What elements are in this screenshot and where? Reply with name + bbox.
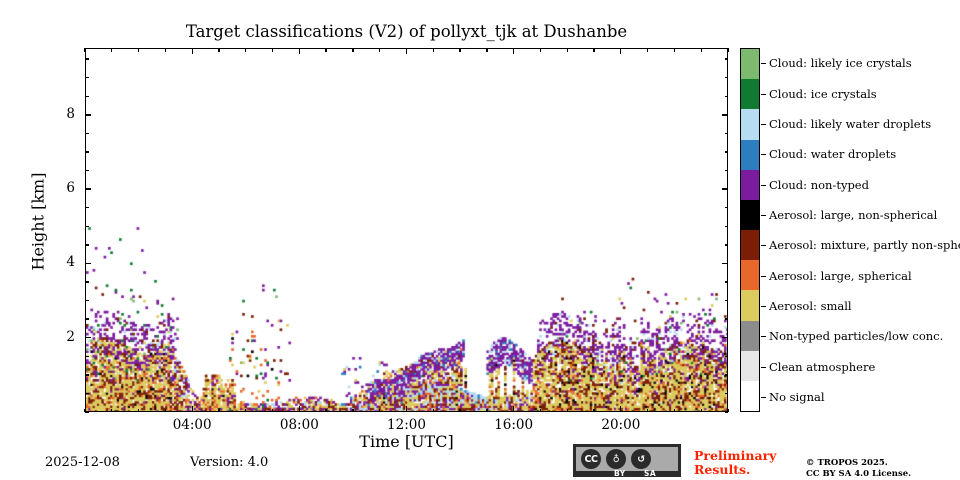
- x-tick-label: 16:00: [474, 417, 554, 433]
- cc-by-label: BY: [614, 469, 626, 478]
- x-tick-minor: [647, 409, 648, 413]
- y-tick-minor: [85, 281, 89, 282]
- colorbar-label: Non-typed particles/low conc.: [769, 329, 943, 343]
- footer-version: Version: 4.0: [190, 455, 268, 470]
- colorbar-tick: [761, 336, 766, 337]
- colorbar-label: No signal: [769, 390, 825, 404]
- colorbar-segment[interactable]: [741, 351, 759, 381]
- colorbar-segment[interactable]: [741, 290, 759, 320]
- x-tick-major: [513, 406, 514, 412]
- colorbar-tick: [761, 124, 766, 125]
- colorbar-tick: [761, 154, 766, 155]
- x-tick-minor: [245, 48, 246, 52]
- colorbar-tick: [761, 306, 766, 307]
- y-tick-minor: [85, 356, 89, 357]
- y-tick-minor: [85, 151, 89, 152]
- y-tick-minor: [725, 151, 729, 152]
- x-tick-minor: [459, 48, 460, 52]
- y-tick-minor: [725, 244, 729, 245]
- colorbar-tick: [761, 63, 766, 64]
- copyright-credit: © TROPOS 2025. CC BY SA 4.0 License.: [806, 458, 911, 480]
- colorbar-label: Cloud: likely water droplets: [769, 117, 931, 131]
- cc-badge-inner: CC ♁ ↺: [576, 447, 678, 471]
- x-tick-label: 04:00: [152, 417, 232, 433]
- x-tick-minor: [567, 48, 568, 52]
- x-tick-minor: [379, 48, 380, 52]
- colorbar-tick: [761, 397, 766, 398]
- x-tick-major: [620, 406, 621, 412]
- colorbar-label: Aerosol: large, non-spherical: [769, 208, 937, 222]
- preliminary-results-notice: Preliminary Results.: [694, 449, 789, 477]
- x-tick-major: [299, 48, 300, 54]
- y-tick-minor: [725, 374, 729, 375]
- x-tick-minor: [647, 48, 648, 52]
- x-tick-minor: [486, 48, 487, 52]
- x-tick-label: 08:00: [259, 417, 339, 433]
- x-tick-minor: [272, 48, 273, 52]
- x-tick-minor: [111, 48, 112, 52]
- footer-date: 2025-12-08: [45, 455, 120, 470]
- x-tick-minor: [325, 409, 326, 413]
- y-tick-minor: [725, 281, 729, 282]
- x-tick-minor: [272, 409, 273, 413]
- x-tick-minor: [486, 409, 487, 413]
- x-tick-minor: [674, 48, 675, 52]
- y-tick-minor: [85, 133, 89, 134]
- y-tick-minor: [725, 207, 729, 208]
- cc-icon: CC: [581, 449, 601, 469]
- y-tick-minor: [85, 170, 89, 171]
- y-tick-minor: [85, 244, 89, 245]
- x-tick-minor: [433, 48, 434, 52]
- cc-by-icon: ♁: [606, 449, 626, 469]
- y-tick-minor: [85, 96, 89, 97]
- colorbar-label: Aerosol: large, spherical: [769, 269, 912, 283]
- x-tick-minor: [593, 48, 594, 52]
- y-tick-minor: [85, 58, 89, 59]
- colorbar-segment[interactable]: [741, 109, 759, 139]
- x-tick-minor: [352, 48, 353, 52]
- x-tick-minor: [567, 409, 568, 413]
- x-tick-major: [513, 48, 514, 54]
- y-tick-minor: [85, 207, 89, 208]
- y-tick-minor: [85, 300, 89, 301]
- y-axis-title: Height [km]: [29, 122, 48, 322]
- colorbar-label: Cloud: ice crystals: [769, 87, 877, 101]
- x-tick-minor: [218, 48, 219, 52]
- colorbar-tick: [761, 215, 766, 216]
- cc-sa-icon: ↺: [631, 449, 651, 469]
- x-tick-minor: [165, 48, 166, 52]
- colorbar-label: Cloud: non-typed: [769, 178, 869, 192]
- x-tick-minor: [111, 409, 112, 413]
- x-tick-minor: [701, 48, 702, 52]
- colorbar-segment[interactable]: [741, 79, 759, 109]
- credit-line-1: © TROPOS 2025.: [806, 458, 911, 469]
- colorbar-label: Cloud: likely ice crystals: [769, 56, 912, 70]
- x-tick-minor: [325, 48, 326, 52]
- x-tick-minor: [138, 409, 139, 413]
- classification-colorbar[interactable]: [740, 48, 760, 412]
- y-tick-major: [722, 263, 728, 264]
- x-tick-major: [406, 406, 407, 412]
- x-tick-minor: [674, 409, 675, 413]
- colorbar-segment[interactable]: [741, 200, 759, 230]
- colorbar-segment[interactable]: [741, 260, 759, 290]
- cc-sa-label: SA: [644, 469, 656, 478]
- y-tick-minor: [725, 58, 729, 59]
- y-tick-major: [722, 114, 728, 115]
- x-tick-label: 20:00: [581, 417, 661, 433]
- y-tick-minor: [725, 133, 729, 134]
- y-tick-minor: [725, 170, 729, 171]
- colorbar-label: Aerosol: mixture, partly non-spherical: [769, 238, 960, 252]
- x-tick-minor: [727, 48, 728, 52]
- y-tick-major: [85, 188, 91, 189]
- colorbar-tick: [761, 276, 766, 277]
- x-tick-minor: [433, 409, 434, 413]
- colorbar-label: Aerosol: small: [769, 299, 852, 313]
- x-tick-minor: [701, 409, 702, 413]
- colorbar-tick: [761, 185, 766, 186]
- y-tick-minor: [725, 411, 729, 412]
- colorbar-tick: [761, 367, 766, 368]
- x-tick-minor: [138, 48, 139, 52]
- x-tick-minor: [352, 409, 353, 413]
- colorbar-label: Clean atmosphere: [769, 360, 875, 374]
- colorbar-segment[interactable]: [741, 140, 759, 170]
- preliminary-line-1: Preliminary: [694, 449, 789, 463]
- colorbar-label: Cloud: water droplets: [769, 147, 896, 161]
- x-tick-major: [406, 48, 407, 54]
- classification-mask-canvas: [86, 49, 728, 412]
- y-tick-minor: [725, 226, 729, 227]
- x-tick-minor: [245, 409, 246, 413]
- colorbar-segment[interactable]: [741, 230, 759, 260]
- lidar-target-classification-figure: Target classifications (V2) of pollyxt_t…: [0, 0, 960, 480]
- x-tick-label: 12:00: [367, 417, 447, 433]
- x-tick-minor: [165, 409, 166, 413]
- x-tick-minor: [218, 409, 219, 413]
- x-tick-minor: [540, 48, 541, 52]
- y-tick-minor: [725, 300, 729, 301]
- x-tick-major: [192, 406, 193, 412]
- y-tick-minor: [85, 77, 89, 78]
- y-tick-label: 2: [29, 329, 75, 345]
- colorbar-segment[interactable]: [741, 49, 759, 79]
- y-tick-minor: [85, 226, 89, 227]
- y-tick-minor: [85, 318, 89, 319]
- x-tick-minor: [379, 409, 380, 413]
- y-tick-major: [722, 337, 728, 338]
- plot-area[interactable]: [85, 48, 728, 412]
- colorbar-tick: [761, 245, 766, 246]
- y-tick-minor: [725, 96, 729, 97]
- x-tick-minor: [84, 48, 85, 52]
- y-tick-minor: [725, 77, 729, 78]
- y-tick-minor: [725, 356, 729, 357]
- x-tick-minor: [540, 409, 541, 413]
- y-tick-major: [85, 337, 91, 338]
- y-tick-minor: [725, 318, 729, 319]
- x-tick-minor: [459, 409, 460, 413]
- colorbar-segment[interactable]: [741, 170, 759, 200]
- y-tick-major: [85, 263, 91, 264]
- colorbar-segment[interactable]: [741, 381, 759, 411]
- y-tick-minor: [85, 374, 89, 375]
- y-tick-minor: [85, 411, 89, 412]
- preliminary-line-2: Results.: [694, 463, 789, 477]
- y-tick-minor: [725, 393, 729, 394]
- creative-commons-badge[interactable]: CC ♁ ↺ BY SA: [573, 444, 681, 477]
- colorbar-segment[interactable]: [741, 321, 759, 351]
- x-tick-major: [620, 48, 621, 54]
- y-tick-major: [85, 114, 91, 115]
- page-title: Target classifications (V2) of pollyxt_t…: [85, 22, 728, 42]
- y-tick-minor: [85, 393, 89, 394]
- x-tick-major: [299, 406, 300, 412]
- x-tick-major: [192, 48, 193, 54]
- x-tick-minor: [593, 409, 594, 413]
- credit-line-2: CC BY SA 4.0 License.: [806, 469, 911, 480]
- y-tick-label: 8: [29, 106, 75, 122]
- y-tick-major: [722, 188, 728, 189]
- colorbar-tick: [761, 94, 766, 95]
